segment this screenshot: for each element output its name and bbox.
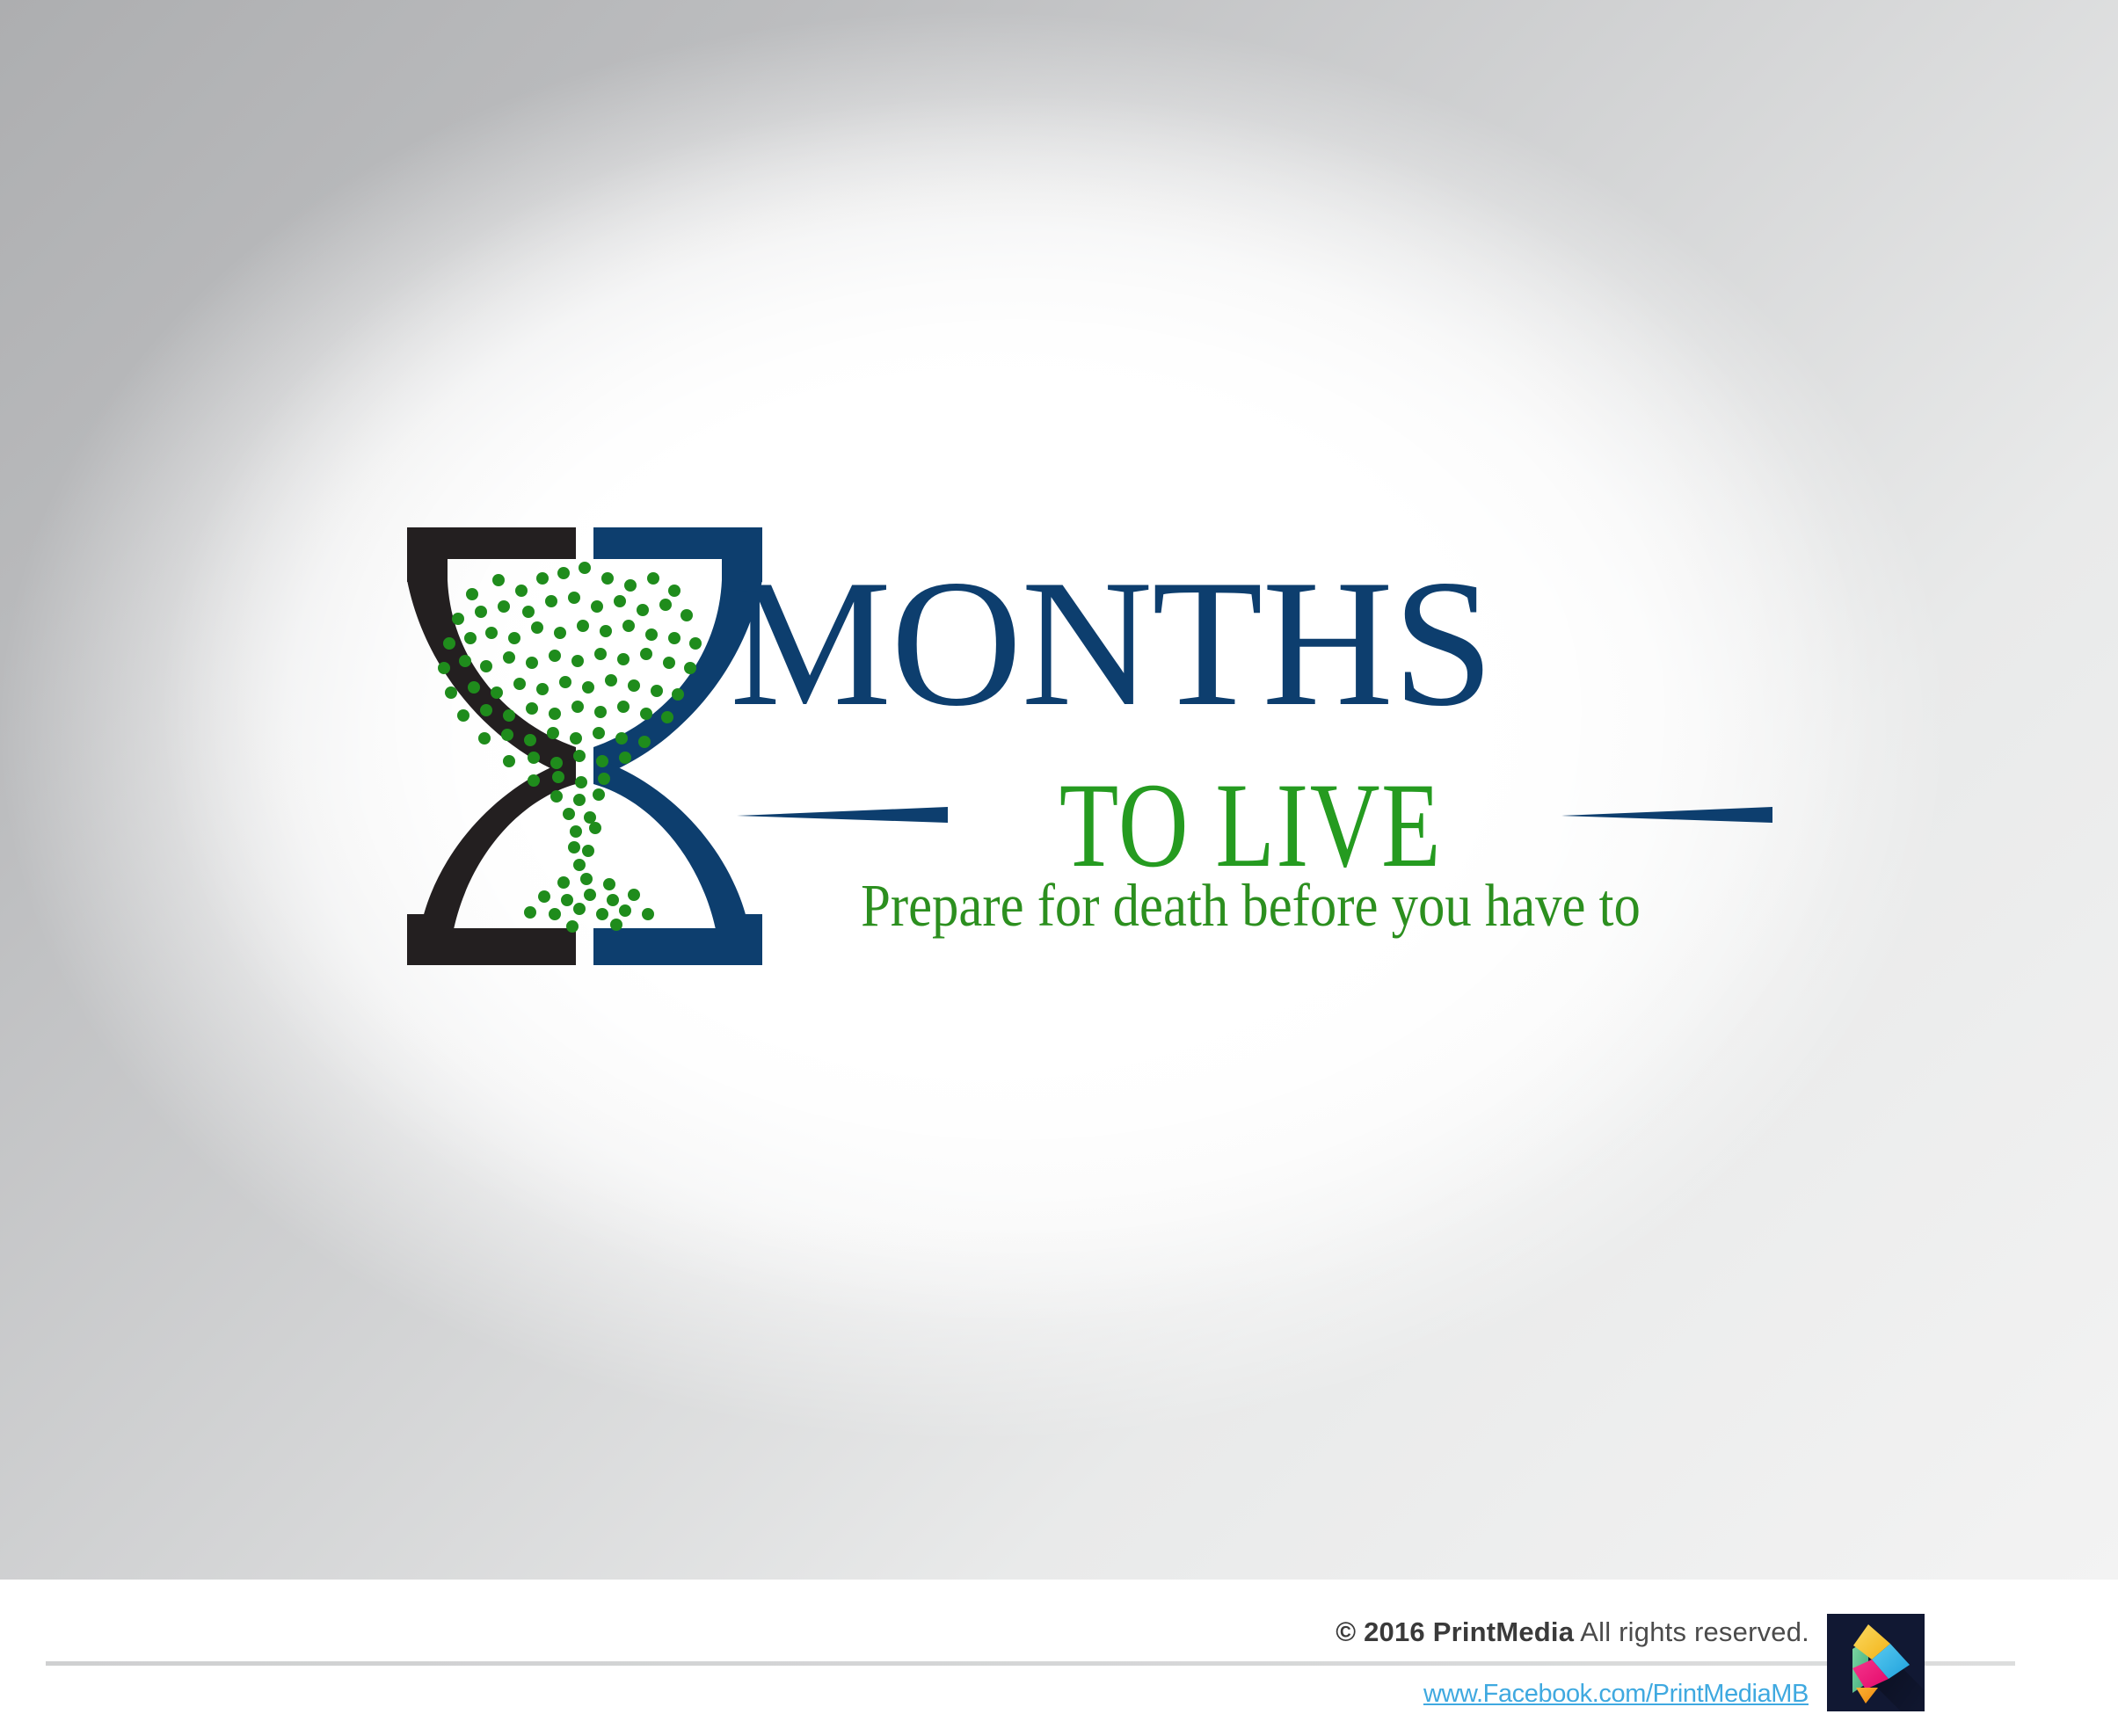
copyright-symbol: © [1336,1616,1356,1647]
wordmark: MONTHS TO LIVE Prepare for death before … [730,527,1772,977]
footer-divider [46,1661,2015,1666]
hourglass-left-half [407,527,576,965]
footer: © 2016 PrintMedia All rights reserved. w… [0,1580,2118,1736]
logo-lockup: MONTHS TO LIVE Prepare for death before … [400,527,1772,984]
right-flourish-ornament [1561,805,1772,824]
screenshot-canvas: MONTHS TO LIVE Prepare for death before … [0,0,2118,1736]
printmedia-logo-icon [1827,1614,1925,1711]
hourglass-icon [400,527,769,977]
copyright-brand: PrintMedia [1433,1616,1574,1647]
brand-secondary-row: TO LIVE [730,765,1772,870]
copyright-notice: © 2016 PrintMedia All rights reserved. [1336,1616,1809,1648]
facebook-url-link[interactable]: www.Facebook.com/PrintMediaMB [1423,1680,1809,1709]
brand-secondary-line: TO LIVE [834,765,1668,886]
copyright-year: 2016 [1364,1616,1425,1647]
brand-primary-line: MONTHS [730,552,1493,734]
copyright-rights: All rights reserved. [1580,1616,1809,1647]
brand-tagline: Prepare for death before you have to [792,875,1709,936]
